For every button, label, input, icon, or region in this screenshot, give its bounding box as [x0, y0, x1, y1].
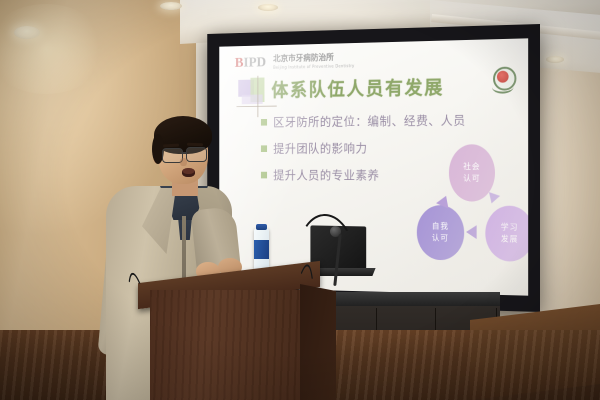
institute-emblem-icon	[491, 67, 514, 93]
emblem-swoosh	[492, 80, 513, 93]
water-bottle-label	[254, 240, 269, 259]
bullet-text: 区牙防所的定位：编制、经费、人员	[273, 113, 465, 129]
screenshot-scene: B IPD 北京市牙病防治所 Beijing Institute of Prev…	[0, 0, 600, 400]
diagram-node-learning-growth: 学习 发展	[485, 206, 528, 262]
node-label-line1: 社会	[463, 161, 480, 173]
decor-line-vertical	[257, 76, 258, 117]
logo-name-en: Beijing Institute of Preventive Dentistr…	[273, 63, 354, 70]
decor-square-lilac	[242, 95, 263, 105]
ceiling-light-2	[258, 4, 278, 11]
ceiling-light-1	[160, 2, 182, 10]
eyeglasses-lens-right	[186, 147, 207, 162]
slide-cycle-diagram: 社会 认可 自我 认可 学习 发展	[417, 144, 528, 264]
speaker-eyebrow-right	[187, 143, 203, 146]
bullet-marker-icon	[261, 119, 267, 126]
node-label-line2: 认可	[432, 233, 449, 245]
diagram-arrow-right-down-icon	[486, 192, 500, 205]
diagram-node-self-recognition: 自我 认可	[417, 205, 464, 260]
node-label-line2: 认可	[463, 173, 480, 185]
slide-bullet-1: 区牙防所的定位：编制、经费、人员	[261, 113, 466, 130]
slide-title: 体系队伍人员有发展	[271, 78, 444, 102]
node-label-line1: 自我	[432, 221, 449, 233]
bullet-text: 提升人员的专业素养	[273, 168, 379, 182]
speaker-mouth	[182, 168, 195, 177]
bullet-text: 提升团队的影响力	[273, 141, 367, 156]
slide-org-logo: B IPD 北京市牙病防治所 Beijing Institute of Prev…	[235, 50, 519, 71]
ceiling-light-4	[546, 56, 564, 63]
bullet-marker-icon	[261, 145, 267, 152]
diagram-arrow-right-to-left-icon	[466, 225, 477, 239]
logo-text-ipd: IPD	[243, 56, 266, 71]
speaker-nose	[180, 158, 187, 166]
node-label-line1: 学习	[501, 222, 519, 234]
water-bottle-cap[interactable]	[256, 224, 267, 230]
eyeglasses-bridge	[181, 152, 186, 154]
bullet-marker-icon	[261, 172, 267, 179]
logo-initial-b: B	[235, 56, 243, 70]
node-label-line2: 发展	[501, 233, 519, 245]
